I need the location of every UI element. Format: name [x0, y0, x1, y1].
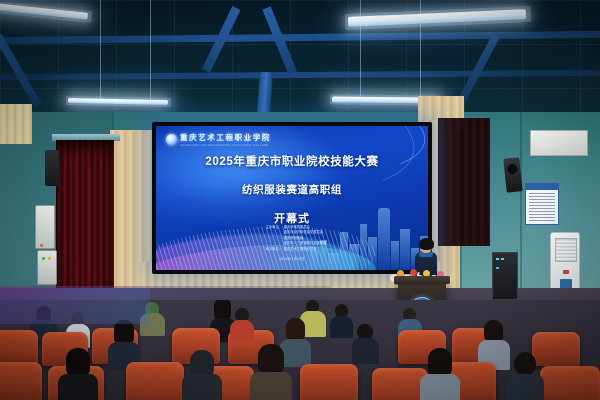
light-hanger: [150, 0, 151, 100]
ac-indicator: [563, 270, 569, 274]
av-equipment-rack: [492, 252, 518, 300]
wall-seam: [520, 112, 522, 298]
host-label: 主办单位:: [258, 225, 280, 246]
notice-header-bar: [526, 184, 558, 190]
stage-curtain-right: [438, 118, 490, 246]
college-name-cn: 重庆艺术工程职业学院: [180, 132, 271, 143]
undertaker-row: 承办单位: 重庆艺术工程职业学院: [258, 247, 327, 252]
status-led: [48, 257, 51, 260]
wall-notice-poster: [525, 183, 559, 225]
electrical-box-upper: [35, 205, 55, 249]
event-title-line-1: 2025年重庆市职业院校技能大赛: [156, 153, 428, 169]
light-hanger: [100, 0, 101, 100]
notice-text-lines: [529, 193, 555, 223]
ac-grill: [555, 238, 577, 262]
auditorium-photo: 重庆艺术工程职业学院 CHONGQING ART ENGINEERING VOC…: [0, 0, 600, 400]
event-title-line-3: 开幕式: [156, 210, 428, 226]
event-title-line-2: 纺织服装赛道高职组: [156, 182, 428, 197]
auditorium-seat: [300, 364, 358, 400]
screen-light-spill-floor: [0, 288, 150, 324]
undertaker-label: 承办单位:: [258, 247, 280, 252]
wall-speaker-left-icon: [45, 150, 59, 186]
ceiling: [0, 0, 600, 120]
auditorium-seat: [0, 362, 42, 400]
host-row: 主办单位: 重庆市教育委员会 重庆市经济和信息化委员会 重庆市财政局 重庆市人力…: [258, 225, 327, 246]
status-led: [42, 257, 45, 260]
host-value: 重庆市人力资源和社会保障局: [284, 241, 327, 246]
led-screen: 重庆艺术工程职业学院 CHONGQING ART ENGINEERING VOC…: [156, 126, 428, 270]
stage-curtain-left: [56, 140, 114, 292]
auditorium-seat: [0, 330, 38, 364]
projector-screen-housing: [530, 130, 588, 156]
presenter-hair: [419, 238, 434, 250]
college-logo: 重庆艺术工程职业学院 CHONGQING ART ENGINEERING VOC…: [166, 132, 271, 147]
undertaker-value: 重庆艺术工程职业学院: [284, 247, 317, 252]
auditorium-seat: [532, 332, 580, 366]
screen-title-block: 2025年重庆市职业院校技能大赛 纺织服装赛道高职组 开幕式: [156, 153, 428, 226]
auditorium-seat: [126, 362, 184, 400]
podium-top: [394, 276, 450, 284]
organizer-block: 主办单位: 重庆市教育委员会 重庆市经济和信息化委员会 重庆市财政局 重庆市人力…: [156, 225, 428, 262]
wall-speaker-right-icon: [503, 157, 522, 192]
college-name-en: CHONGQING ART ENGINEERING VOCATIONAL COL…: [180, 144, 271, 147]
college-emblem-icon: [166, 134, 177, 145]
event-date: 2026年1月16日: [258, 257, 327, 262]
auditorium-seat: [540, 366, 600, 400]
electrical-box-lower: [37, 250, 57, 285]
status-led: [40, 244, 43, 247]
wood-panel-upper-left: [0, 104, 32, 144]
